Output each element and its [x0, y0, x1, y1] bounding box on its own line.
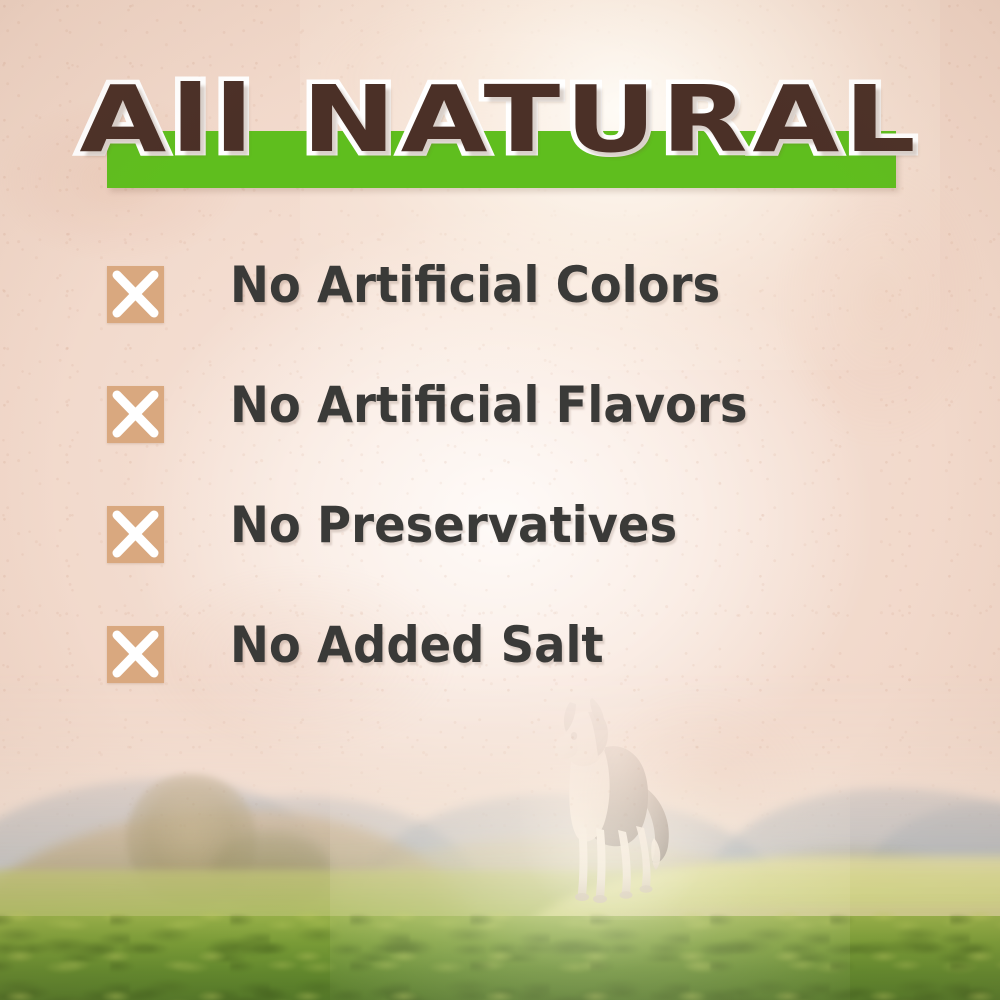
list-item: No Preservatives [107, 502, 927, 622]
page-title: All NATURAL [0, 74, 1000, 166]
list-item-label: No Artificial Flavors [230, 376, 748, 435]
list-item-label: No Preservatives [230, 496, 677, 555]
list-item-label: No Artificial Colors [230, 256, 720, 315]
x-mark-icon [107, 386, 164, 443]
list-item: No Added Salt [107, 622, 927, 742]
list-item-label: No Added Salt [230, 616, 604, 675]
product-feature-panel: All NATURAL No Artificial Colors No Arti… [0, 0, 1000, 1000]
x-mark-icon [107, 506, 164, 563]
x-mark-icon [107, 626, 164, 683]
x-mark-icon [107, 266, 164, 323]
grass-texture [0, 910, 1000, 1000]
list-item: No Artificial Flavors [107, 382, 927, 502]
feature-list: No Artificial Colors No Artificial Flavo… [107, 262, 927, 742]
list-item: No Artificial Colors [107, 262, 927, 382]
